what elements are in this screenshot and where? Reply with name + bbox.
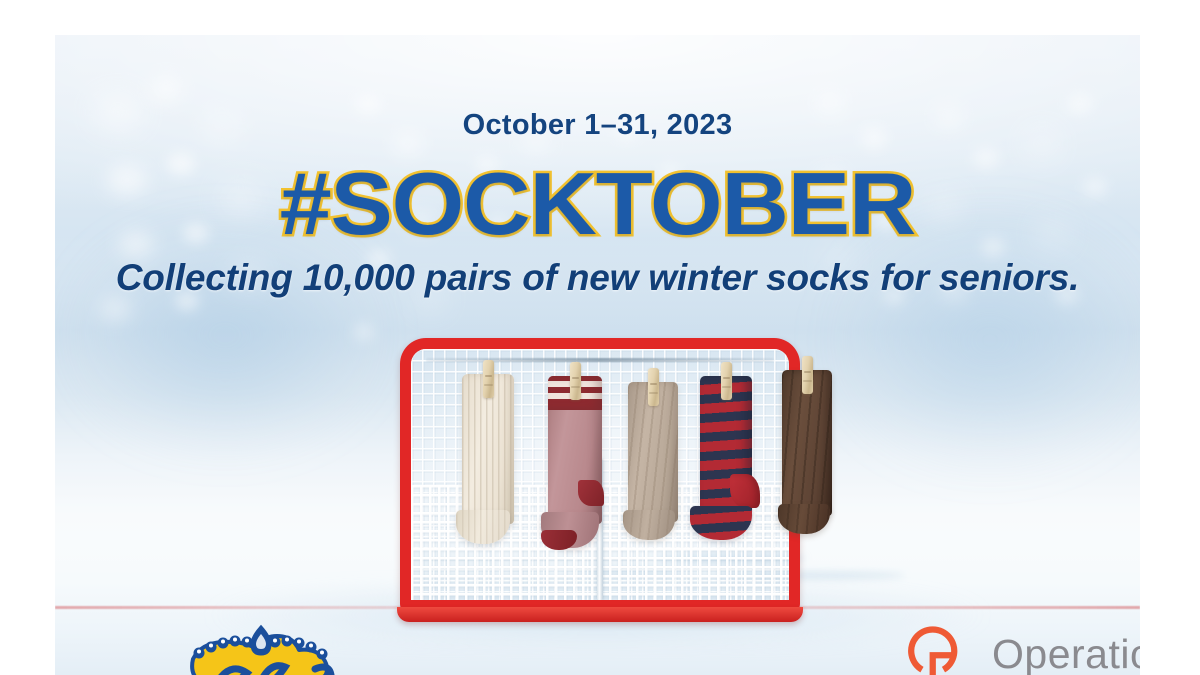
- sock-navy-red-striped: [700, 362, 752, 542]
- sock-rose-striped: [548, 362, 602, 548]
- page-title: #SOCKTOBER: [55, 153, 1140, 255]
- sock-heel: [578, 480, 604, 506]
- sock-taupe-cable: [628, 368, 678, 536]
- hockey-net: [400, 338, 800, 613]
- stadium-light-bokeh: [151, 77, 181, 101]
- sock-foot: [623, 510, 675, 540]
- poster-canvas: October 1–31, 2023 #SOCKTOBER Collecting…: [0, 0, 1200, 675]
- campaign-date: October 1–31, 2023: [55, 109, 1140, 142]
- sock-brown-cable: [782, 356, 832, 528]
- clothespin-icon: [570, 362, 581, 400]
- sock-group: [400, 338, 800, 613]
- sock-foot: [456, 510, 510, 544]
- operation-logo: Operation: [900, 623, 1140, 675]
- clothespin-icon: [802, 356, 813, 394]
- clothespin-icon: [483, 360, 494, 398]
- sock-cream-ribbed: [462, 360, 514, 540]
- operation-logo-icon: [900, 623, 978, 675]
- arena-scene: October 1–31, 2023 #SOCKTOBER Collecting…: [55, 35, 1140, 675]
- stadium-light-bokeh: [353, 323, 375, 341]
- crown-logo: [165, 619, 365, 675]
- sock-heel: [730, 474, 760, 508]
- operation-logo-label: Operation: [992, 634, 1140, 675]
- clothespin-icon: [721, 362, 732, 400]
- stadium-light-bokeh: [99, 297, 131, 321]
- sock-foot: [690, 506, 752, 540]
- campaign-tagline: Collecting 10,000 pairs of new winter so…: [55, 257, 1140, 299]
- crown-logo-mark: [165, 619, 365, 675]
- clothespin-icon: [648, 368, 659, 406]
